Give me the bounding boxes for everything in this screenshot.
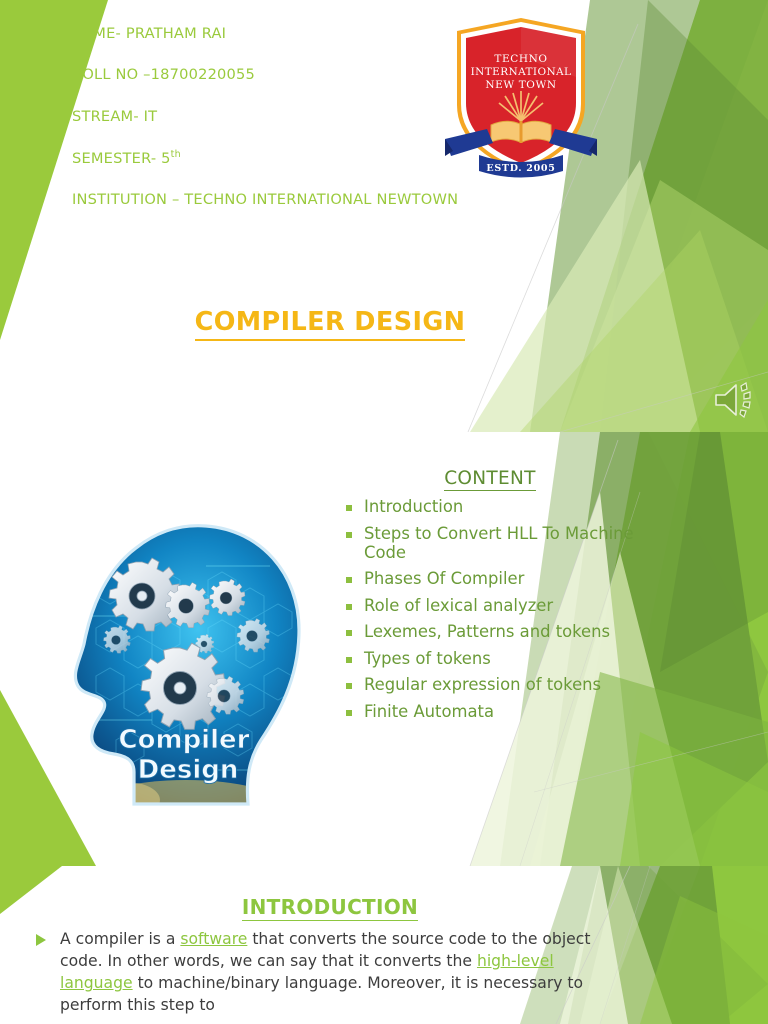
slide-introduction: INTRODUCTION A compiler is a software th… xyxy=(0,866,768,1024)
content-list-item[interactable]: Steps to Convert HLL To Machine Code xyxy=(340,524,640,562)
content-list-item[interactable]: Introduction xyxy=(340,497,640,516)
content-list-item-label: Phases Of Compiler xyxy=(364,569,524,588)
deck-title-text: COMPILER DESIGN xyxy=(195,307,466,341)
presentation-page: NAME- PRATHAM RAI ROLL NO –18700220055 S… xyxy=(0,0,768,1024)
detail-institution: INSTITUTION – TECHNO INTERNATIONAL NEWTO… xyxy=(72,192,532,209)
bullet-square-icon xyxy=(346,505,352,511)
bullet-square-icon xyxy=(346,710,352,716)
college-logo: TECHNO INTERNATIONAL NEW TOWN xyxy=(443,17,599,187)
content-list-item-label: Types of tokens xyxy=(364,649,491,668)
bullet-square-icon xyxy=(346,683,352,689)
brain-image-caption-line-2: Design xyxy=(138,755,239,785)
detail-semester-text: SEMESTER- 5 xyxy=(72,150,171,167)
detail-stream-text: STREAM- IT xyxy=(72,108,157,125)
detail-roll-no-text: ROLL NO –18700220055 xyxy=(72,66,255,83)
content-list-item[interactable]: Phases Of Compiler xyxy=(340,569,640,588)
speaker-icon[interactable] xyxy=(712,378,758,422)
content-list-item[interactable]: Regular expression of tokens xyxy=(340,675,640,694)
detail-semester-ordinal: th xyxy=(171,149,181,160)
content-heading: CONTENT xyxy=(340,468,640,489)
content-heading-text: CONTENT xyxy=(444,468,536,491)
bullet-square-icon xyxy=(346,577,352,583)
content-list-item-label: Introduction xyxy=(364,497,463,516)
bullet-square-icon xyxy=(346,630,352,636)
logo-line-1: TECHNO xyxy=(494,53,547,65)
logo-line-3: NEW TOWN xyxy=(485,79,556,91)
content-list-item-label: Role of lexical analyzer xyxy=(364,596,553,615)
content-block: CONTENT Introduction Steps to Convert HL… xyxy=(340,468,640,728)
content-list-item-label: Regular expression of tokens xyxy=(364,675,601,694)
bullet-square-icon xyxy=(346,532,352,538)
triangle-bullet-icon xyxy=(36,934,46,946)
slide-content: Compiler Design CONTENT Introduction Ste… xyxy=(0,432,768,866)
introduction-heading: INTRODUCTION xyxy=(0,892,660,920)
brain-image-caption-line-1: Compiler xyxy=(119,725,250,755)
content-list-item-label: Steps to Convert HLL To Machine Code xyxy=(364,524,634,562)
detail-name-text: NAME- PRATHAM RAI xyxy=(72,25,226,42)
content-list: Introduction Steps to Convert HLL To Mac… xyxy=(340,497,640,721)
content-list-item[interactable]: Role of lexical analyzer xyxy=(340,596,640,615)
intro-text-part-3: to machine/binary language. Moreover, it… xyxy=(60,974,583,1014)
slide-title: NAME- PRATHAM RAI ROLL NO –18700220055 S… xyxy=(0,0,768,432)
content-list-item-label: Lexemes, Patterns and tokens xyxy=(364,622,610,641)
logo-banner-text: ESTD. 2005 xyxy=(486,163,555,174)
deck-title: COMPILER DESIGN xyxy=(0,300,660,338)
bullet-square-icon xyxy=(346,657,352,663)
introduction-paragraph: A compiler is a software that converts t… xyxy=(36,928,606,1017)
intro-text-part-1: A compiler is a xyxy=(60,930,180,948)
introduction-heading-text: INTRODUCTION xyxy=(242,895,418,921)
bullet-square-icon xyxy=(346,604,352,610)
content-list-item[interactable]: Types of tokens xyxy=(340,649,640,668)
logo-line-2: INTERNATIONAL xyxy=(471,66,572,78)
software-link[interactable]: software xyxy=(180,930,247,948)
content-list-item-label: Finite Automata xyxy=(364,702,494,721)
content-list-item[interactable]: Finite Automata xyxy=(340,702,640,721)
content-list-item[interactable]: Lexemes, Patterns and tokens xyxy=(340,622,640,641)
compiler-design-brain-image: Compiler Design xyxy=(56,520,314,808)
detail-institution-text: INSTITUTION – TECHNO INTERNATIONAL NEWTO… xyxy=(72,191,458,208)
